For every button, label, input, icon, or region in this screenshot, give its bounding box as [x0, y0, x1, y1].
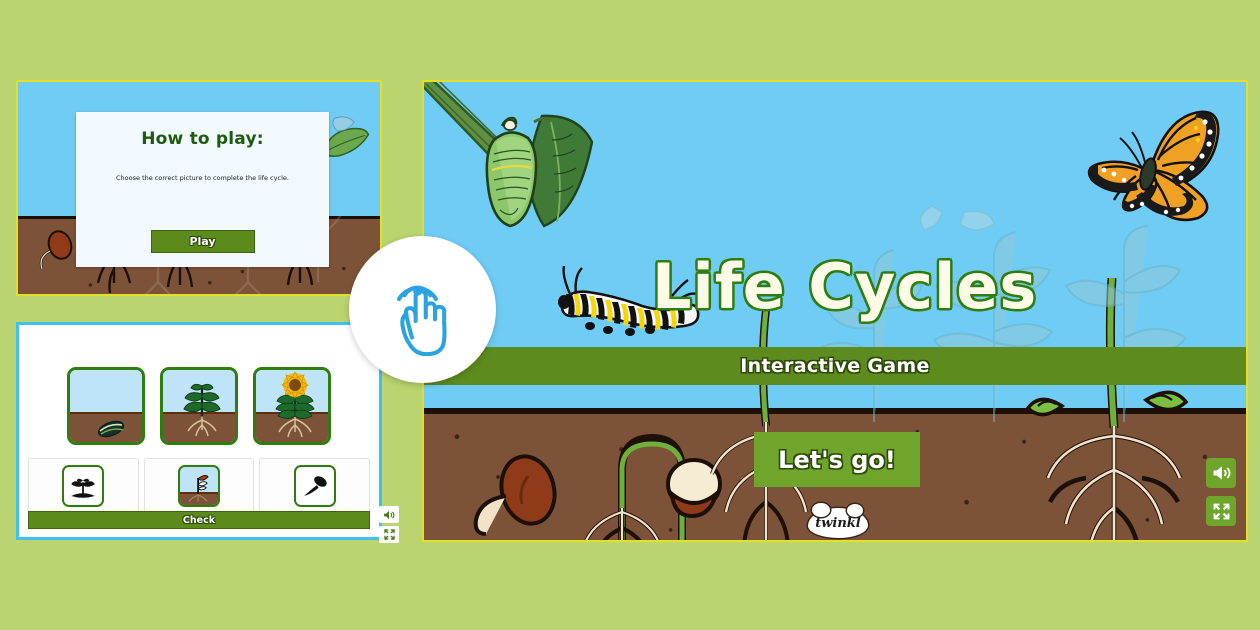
page-title: Life Cycles [652, 250, 1037, 323]
small-panel-controls [379, 506, 401, 543]
life-cycles-title-slide: Life Cycles Interactive Game [422, 80, 1248, 542]
brand-wordmark: twinkl [815, 516, 861, 531]
play-button[interactable]: Play [151, 230, 255, 253]
option-tile-tadpole[interactable] [294, 465, 336, 507]
lets-go-label: Let's go! [778, 446, 896, 474]
check-button-label: Check [183, 515, 215, 526]
how-to-play-slide: How to play: Choose the correct picture … [16, 80, 382, 296]
germinating-seed-icon [180, 467, 218, 505]
answer-slot-2[interactable] [144, 458, 255, 513]
interactive-game-banner: Interactive Game [424, 347, 1246, 385]
tap-hand-icon [377, 264, 469, 356]
volume-button-small[interactable] [379, 506, 399, 523]
collapse-arrows-icon [383, 528, 396, 541]
monarch-butterfly [1068, 106, 1238, 228]
young-sunflower-plant-icon [163, 370, 238, 445]
twinkl-logo: twinkl [808, 508, 868, 538]
option-tile-germinating-seed[interactable] [178, 465, 220, 507]
stage-card-flowering[interactable] [253, 367, 331, 445]
answer-slot-3[interactable] [259, 458, 370, 513]
tadpole-silhouette-icon [296, 467, 334, 505]
lets-go-button[interactable]: Let's go! [754, 432, 920, 487]
howto-title: How to play: [76, 129, 329, 149]
play-button-label: Play [189, 235, 215, 248]
flowering-sunflower-icon [256, 370, 331, 445]
life-cycle-question-slide: Check [16, 322, 382, 540]
check-button[interactable]: Check [28, 511, 370, 529]
milkweed-stem-with-leaves [424, 82, 654, 272]
main-panel-controls [1206, 458, 1236, 526]
answer-option-row [28, 458, 370, 513]
how-to-play-card: How to play: Choose the correct picture … [76, 112, 329, 267]
fullscreen-exit-button[interactable] [1206, 496, 1236, 526]
fullscreen-exit-button-small[interactable] [379, 526, 399, 543]
answer-slot-1[interactable] [28, 458, 139, 513]
collapse-arrows-icon [1212, 502, 1231, 521]
speaker-icon [1211, 463, 1231, 483]
banner-label: Interactive Game [740, 355, 929, 377]
sunflower-seed-icon [92, 418, 130, 438]
sprout-silhouette-icon [64, 467, 102, 505]
speaker-icon [382, 508, 396, 522]
option-tile-sprout[interactable] [62, 465, 104, 507]
stage-card-seed[interactable] [67, 367, 145, 445]
life-cycle-stage-row [67, 367, 331, 445]
volume-button[interactable] [1206, 458, 1236, 488]
howto-instructions: Choose the correct picture to complete t… [76, 174, 329, 182]
stage-card-young-plant[interactable] [160, 367, 238, 445]
tap-hand-badge[interactable] [349, 236, 496, 383]
